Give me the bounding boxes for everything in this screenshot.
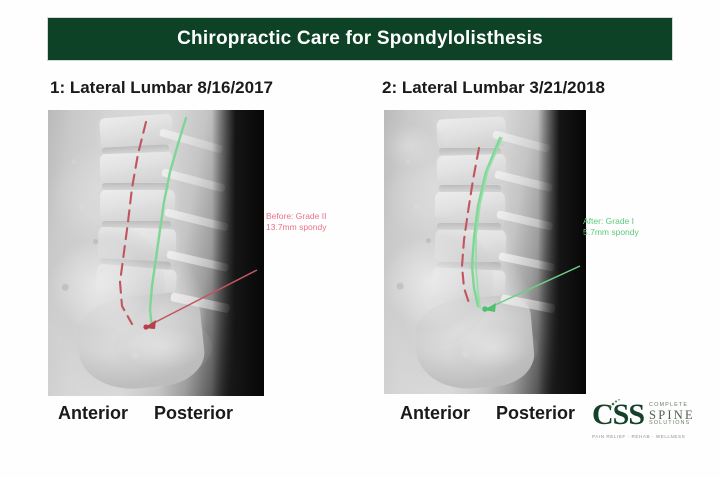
measurement-overlay-before [48,110,264,396]
annotation-before-line1: Before: Grade II [266,211,326,222]
annotation-after: After: Grade I 5.7mm spondy [583,216,639,238]
posterior-margin-line [150,118,186,328]
annotation-before: Before: Grade II 13.7mm spondy [266,211,326,233]
anterior-margin-line [120,122,146,324]
measurement-point [143,324,148,329]
logo-monogram: CSS [592,400,644,430]
spine-sparkle-icon [607,398,623,410]
panel-before: 1: Lateral Lumbar 8/16/2017 [48,78,348,396]
measurement-overlay-after [384,110,586,394]
slide-title-banner: Chiropractic Care for Spondylolisthesis [48,18,672,60]
xray-image-after [384,110,586,394]
callout-leader-line [484,266,580,310]
measurement-point [482,306,488,312]
logo-lockup: CSS COMPLETE SPINE SOLUTIONS [592,400,712,430]
brand-logo: CSS COMPLETE SPINE SOLUTIONS PAIN RELIEF… [592,400,712,452]
page-title: Chiropractic Care for Spondylolisthesis [177,28,543,50]
annotation-after-line1: After: Grade I [583,216,639,227]
orientation-labels-after: Anterior Posterior [400,403,575,424]
annotation-before-line2: 13.7mm spondy [266,222,326,233]
orientation-labels-before: Anterior Posterior [58,403,233,424]
label-posterior: Posterior [154,403,233,424]
label-posterior: Posterior [496,403,575,424]
annotation-after-line2: 5.7mm spondy [583,227,639,238]
xray-image-before [48,110,264,396]
panel-caption-after: 2: Lateral Lumbar 3/21/2018 [382,78,676,102]
logo-word-solutions: SOLUTIONS [649,421,695,427]
logo-wordmark: COMPLETE SPINE SOLUTIONS [649,403,695,427]
panel-caption-before: 1: Lateral Lumbar 8/16/2017 [50,78,348,102]
label-anterior: Anterior [400,403,470,424]
callout-leader-line [144,270,257,328]
logo-tagline: PAIN RELIEF · REHAB · WELLNESS [592,434,712,439]
label-anterior: Anterior [58,403,128,424]
